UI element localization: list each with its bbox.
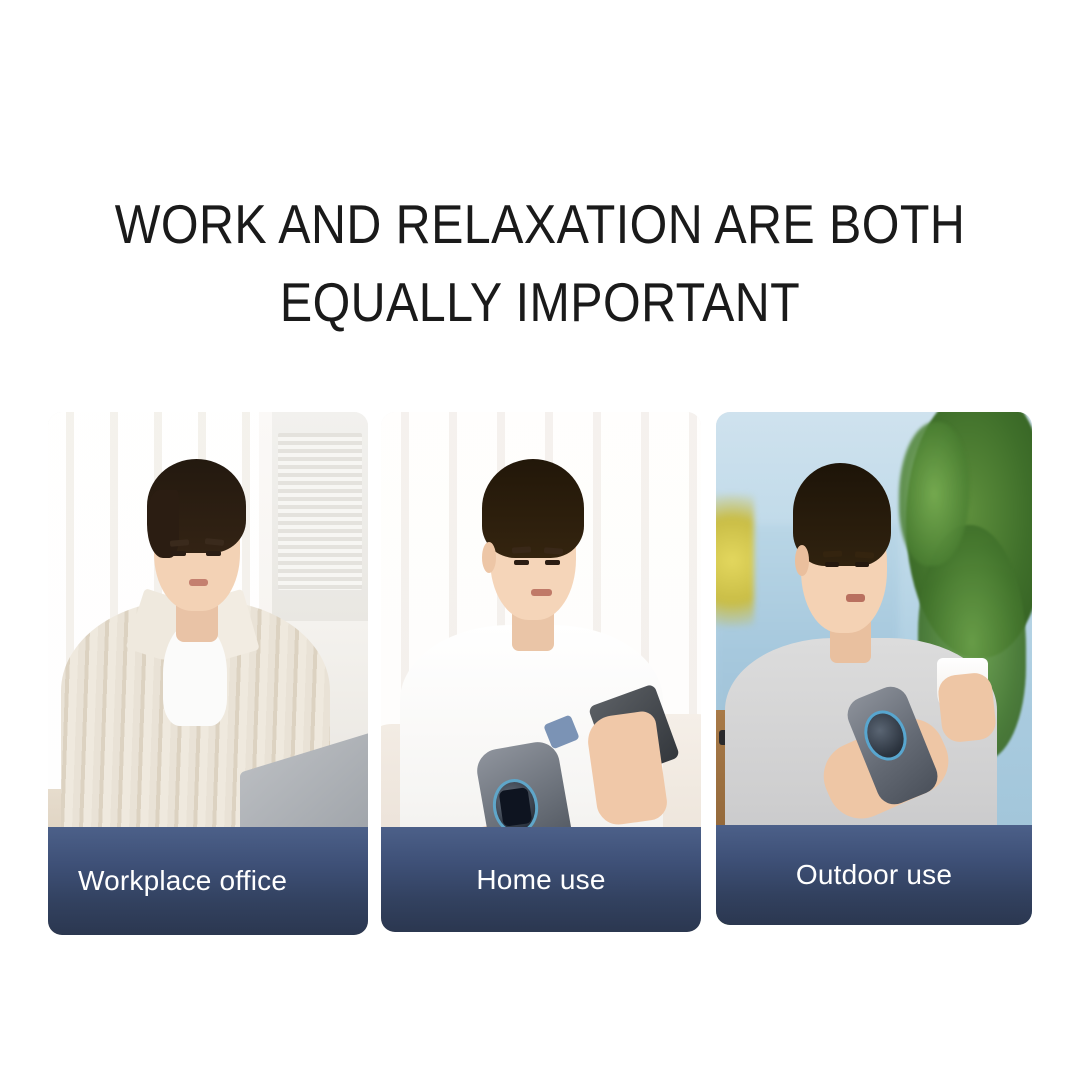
card-caption-label: Workplace office xyxy=(78,865,287,897)
card-caption-label: Home use xyxy=(476,864,605,896)
wrist-massager-display xyxy=(498,787,532,827)
use-case-card-outdoor-use[interactable]: Outdoor use xyxy=(716,412,1032,925)
use-case-card-home-use[interactable]: Home use xyxy=(381,412,701,932)
use-case-card-row: Workplace office xyxy=(0,0,1080,1080)
card-caption-workplace-office: Workplace office xyxy=(48,827,368,935)
product-lifestyle-banner: WORK AND RELAXATION ARE BOTH EQUALLY IMP… xyxy=(0,0,1080,1080)
card-caption-outdoor-use: Outdoor use xyxy=(716,825,1032,925)
card-caption-home-use: Home use xyxy=(381,827,701,932)
card-caption-label: Outdoor use xyxy=(796,859,952,891)
use-case-card-workplace-office[interactable]: Workplace office xyxy=(48,412,368,935)
